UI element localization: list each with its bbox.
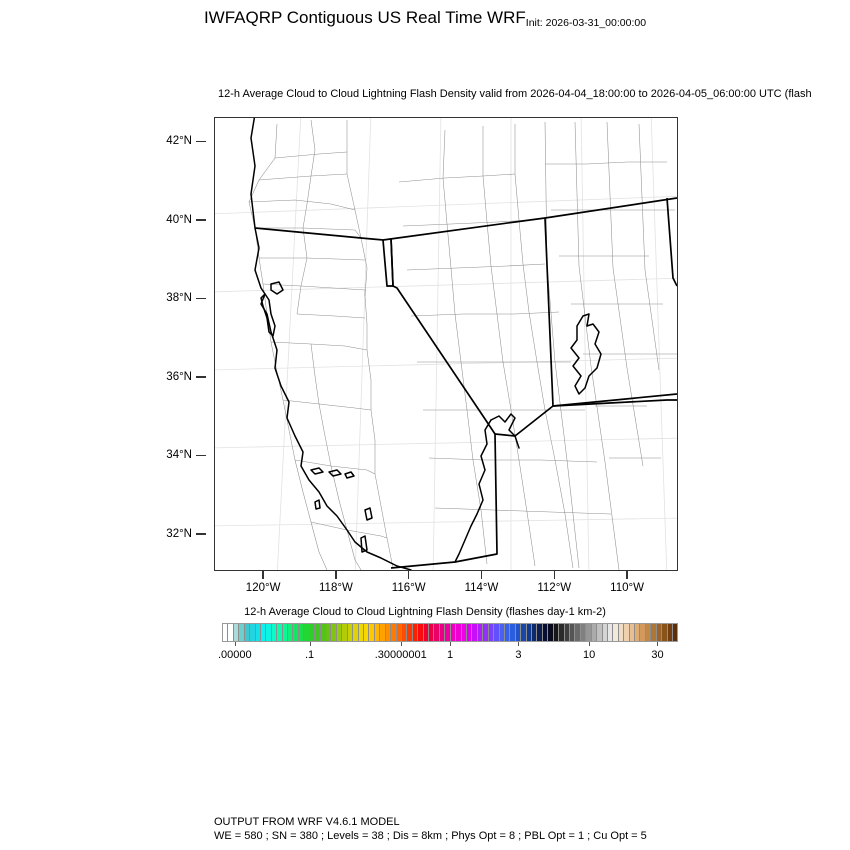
colorbar-tick-label: .00000 (218, 649, 252, 661)
colorbar-tick (589, 642, 590, 646)
lat-tick-label: 36°N (166, 371, 192, 383)
lon-tick-label: 114°W (465, 582, 499, 594)
colorbar-tick (657, 642, 658, 646)
map-plot-area (214, 117, 678, 571)
state-boundaries (255, 198, 677, 568)
colorbar-tick (450, 642, 451, 646)
colorbar-tick-label: 3 (515, 649, 521, 661)
lat-tick-mark (196, 298, 206, 299)
latitude-axis: 42°N40°N38°N36°N34°N32°N (158, 117, 206, 571)
colorbar-swatches (222, 623, 678, 642)
graticule-lines (215, 118, 677, 570)
colorbar-tick-label: .30000001 (375, 649, 427, 661)
lat-tick-label: 34°N (166, 449, 192, 461)
lat-tick-label: 40°N (166, 214, 192, 226)
map-geography (215, 118, 677, 570)
figure-canvas: IWFAQRP Contiguous US Real Time WRFInit:… (0, 0, 850, 850)
colorbar-title: 12-h Average Cloud to Cloud Lightning Fl… (0, 606, 850, 618)
colorbar-tick (235, 642, 236, 646)
lon-tick-mark (626, 570, 627, 579)
lon-tick-mark (481, 570, 482, 579)
lat-tick-label: 38°N (166, 292, 192, 304)
lat-tick-mark (196, 455, 206, 456)
lon-tick-mark (408, 570, 409, 579)
lat-tick-mark (196, 533, 206, 534)
footer-line-1: OUTPUT FROM WRF V4.6.1 MODEL (214, 816, 400, 828)
lat-tick-label: 32°N (166, 528, 192, 540)
colorbar-tick (401, 642, 402, 646)
lon-tick-label: 118°W (319, 582, 353, 594)
colorbar-tick (310, 642, 311, 646)
county-boundaries (249, 120, 677, 570)
model-footer: OUTPUT FROM WRF V4.6.1 MODEL WE = 580 ; … (214, 815, 647, 843)
longitude-axis: 120°W118°W116°W114°W112°W110°W (214, 578, 678, 598)
lon-tick-mark (262, 570, 263, 579)
lat-tick-label: 42°N (166, 135, 192, 147)
lon-tick-label: 110°W (610, 582, 644, 594)
colorbar (222, 623, 678, 642)
colorbar-tick (518, 642, 519, 646)
colorbar-tick-label: 10 (583, 649, 595, 661)
init-time-label: Init: 2026-03-31_00:00:00 (526, 17, 646, 29)
colorbar-tick-labels: .00000.1.30000001131030 (222, 649, 678, 667)
lon-tick-label: 120°W (246, 582, 281, 594)
lon-tick-mark (554, 570, 555, 579)
lat-tick-mark (196, 141, 206, 142)
page-title: IWFAQRP Contiguous US Real Time WRFInit:… (0, 8, 850, 28)
lat-tick-mark (196, 219, 206, 220)
footer-line-2: WE = 580 ; SN = 380 ; Levels = 38 ; Dis … (214, 830, 647, 842)
lon-tick-label: 112°W (537, 582, 571, 594)
lon-tick-mark (335, 570, 336, 579)
colorbar-tick-label: .1 (305, 649, 314, 661)
plot-subtitle: 12-h Average Cloud to Cloud Lightning Fl… (218, 88, 812, 100)
lon-tick-label: 116°W (392, 582, 426, 594)
coastline (251, 118, 601, 570)
main-title-text: IWFAQRP Contiguous US Real Time WRF (204, 8, 526, 27)
lat-tick-mark (196, 376, 206, 377)
colorbar-swatch (673, 624, 677, 641)
colorbar-tick-label: 1 (447, 649, 453, 661)
colorbar-tick-label: 30 (651, 649, 663, 661)
